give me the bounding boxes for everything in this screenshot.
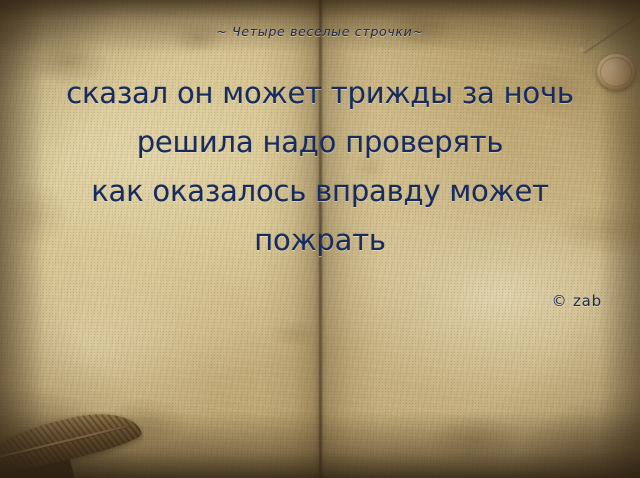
verse-line-4: пожрать xyxy=(0,216,640,265)
title-line: ~ Четыре веселые строчки~ xyxy=(216,24,423,39)
verse-line-1: сказал он может трижды за ночь xyxy=(0,69,640,118)
signature-watermark: © zab xyxy=(552,292,602,310)
text-content: ~ Четыре веселые строчки~ сказал он може… xyxy=(0,0,640,478)
verse-line-3: как оказалось вправду может xyxy=(0,167,640,216)
verse-line-2: решила надо проверять xyxy=(0,118,640,167)
verse-block: сказал он может трижды за ночь решила на… xyxy=(0,69,640,265)
quote-image-canvas: ~ Четыре веселые строчки~ сказал он може… xyxy=(0,0,640,478)
